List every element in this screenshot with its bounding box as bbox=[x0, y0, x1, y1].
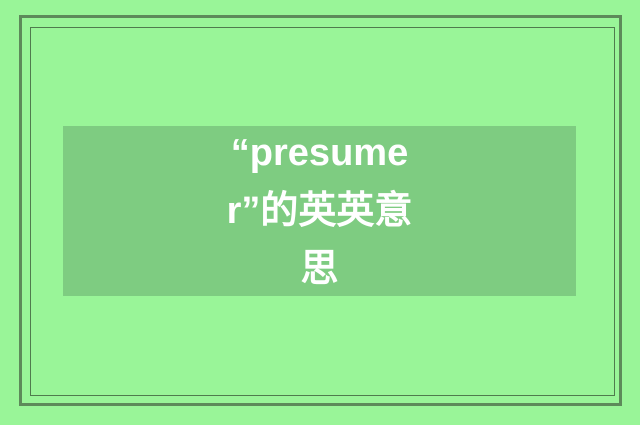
page-title: “presumer”的英英意思 bbox=[220, 124, 420, 298]
content-card: “presumer”的英英意思 bbox=[63, 126, 576, 296]
page-root: “presumer”的英英意思 bbox=[0, 0, 640, 425]
